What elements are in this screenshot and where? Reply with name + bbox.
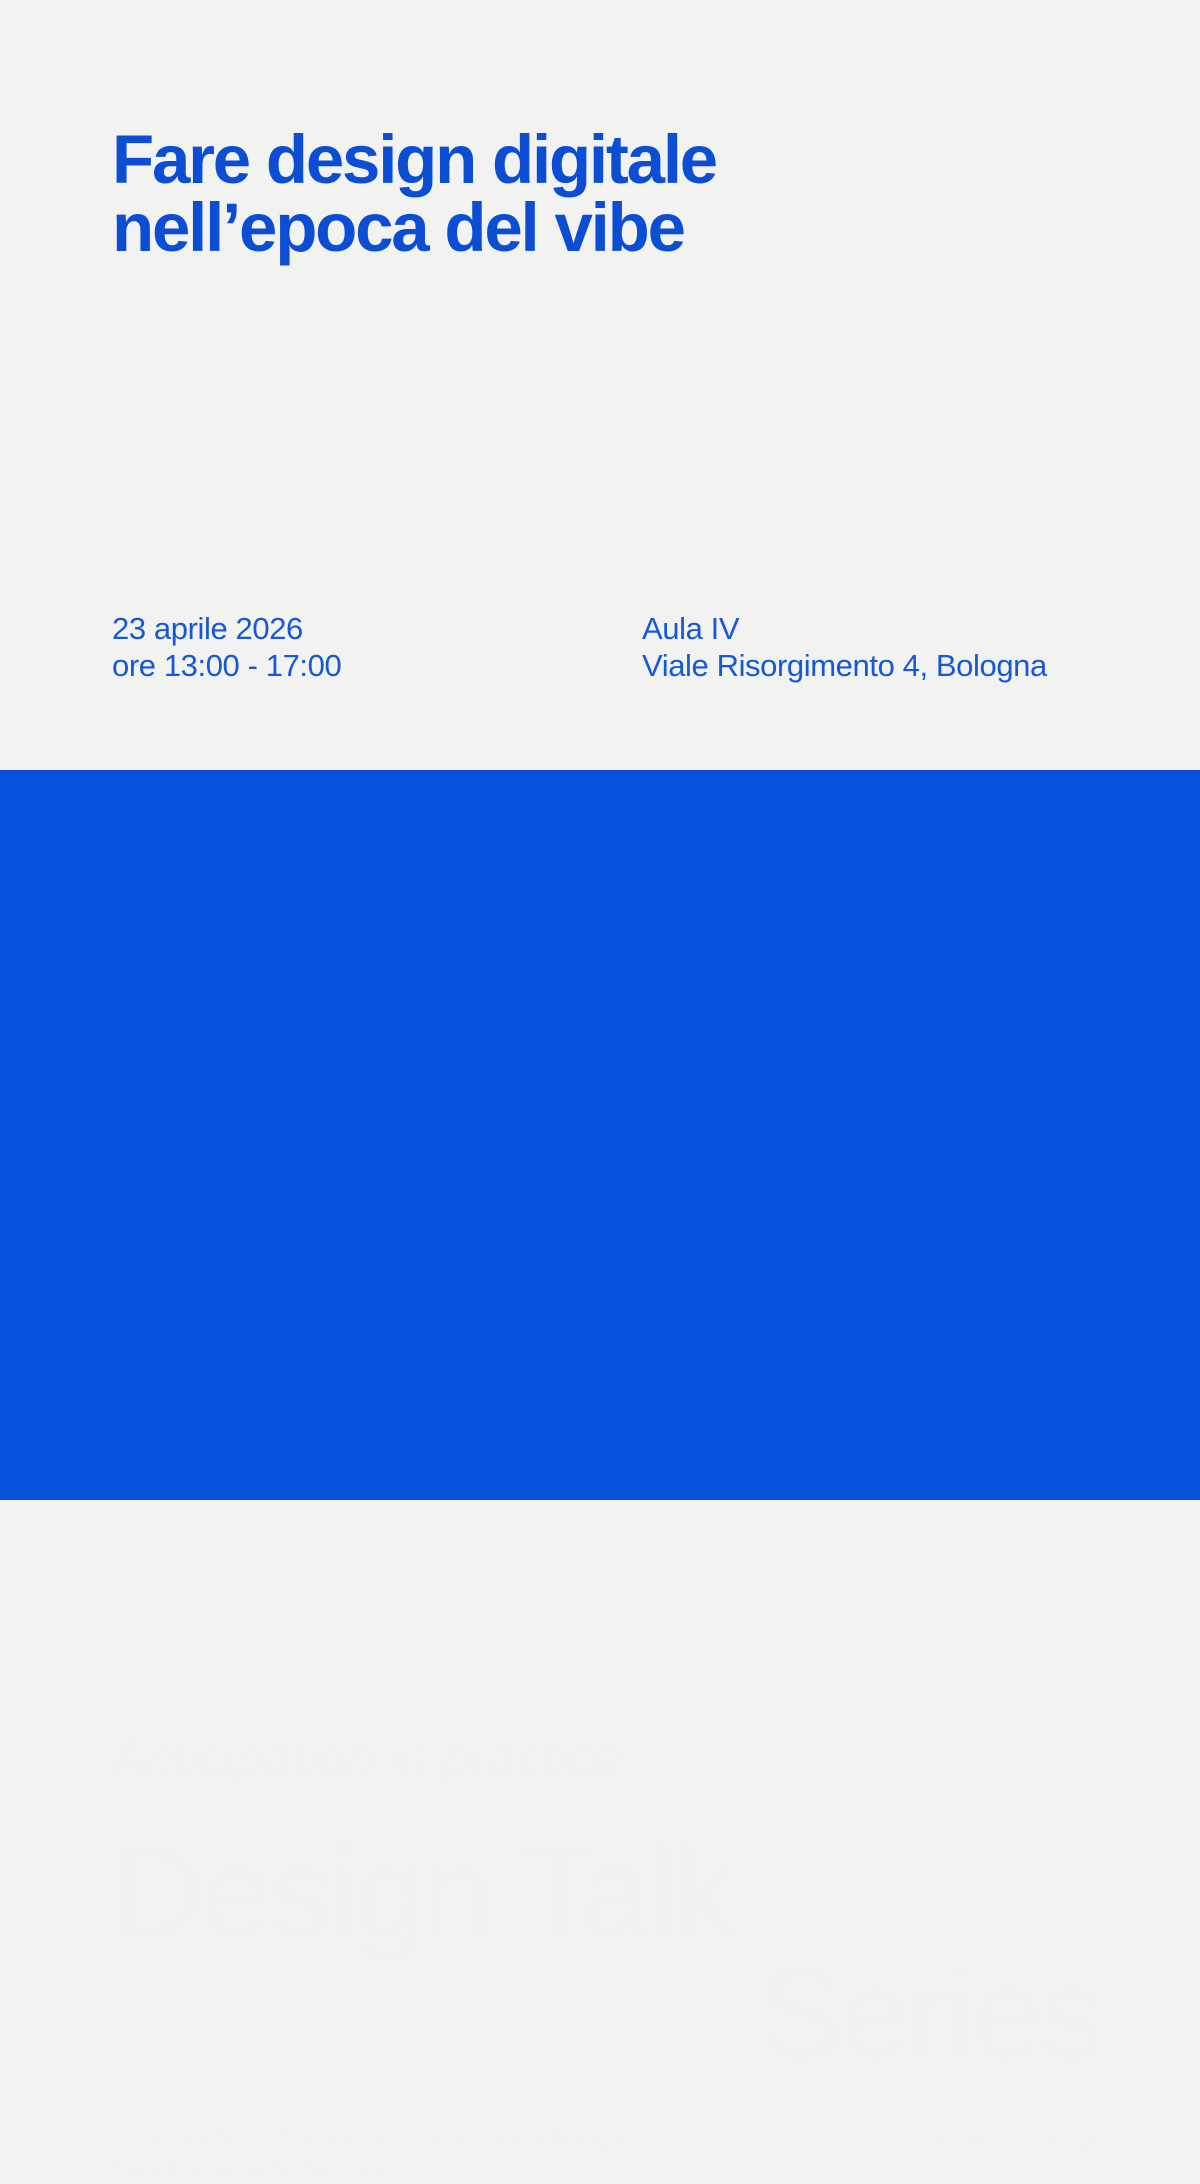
event-room: Aula IV — [642, 610, 1104, 647]
institution-credit: ALMA MATER STUDIORUM - Università di Bol… — [112, 2124, 927, 2184]
event-date-block: 23 aprile 2026 ore 13:00 - 17:00 — [112, 610, 642, 684]
series-title-line-1: Design Talk — [112, 1832, 1100, 1954]
event-venue-block: Aula IV Viale Risorgimento 4, Bologna — [642, 610, 1104, 684]
series-kicker: Anticipation in practice — [110, 1730, 621, 1788]
department-name: Dipartimento di Architettura — [112, 2154, 927, 2184]
credits: ALMA MATER STUDIORUM - Università di Bol… — [112, 2124, 1104, 2184]
institution-name: ALMA MATER STUDIORUM - Università di Bol… — [112, 2124, 927, 2154]
bottom-blue-panel: Anticipation in practice Design Talk Ser… — [0, 770, 1200, 1500]
event-date: 23 aprile 2026 — [112, 610, 642, 647]
page-title-line-2: nell’epoca del vibe — [112, 194, 1012, 262]
series-title: Design Talk Series — [112, 1832, 1100, 2076]
event-details: 23 aprile 2026 ore 13:00 - 17:00 Aula IV… — [112, 610, 1104, 684]
top-light-panel: Fare design digitale nell’epoca del vibe… — [0, 0, 1200, 770]
page-title-line-1: Fare design digitale — [112, 126, 1012, 194]
program-credit: Advanced Design — [927, 2124, 1104, 2154]
event-address: Viale Risorgimento 4, Bologna — [642, 647, 1104, 684]
page-title: Fare design digitale nell’epoca del vibe — [112, 126, 1012, 262]
event-time: ore 13:00 - 17:00 — [112, 647, 642, 684]
poster: Fare design digitale nell’epoca del vibe… — [0, 0, 1200, 1500]
series-title-line-2: Series — [112, 1954, 1100, 2076]
